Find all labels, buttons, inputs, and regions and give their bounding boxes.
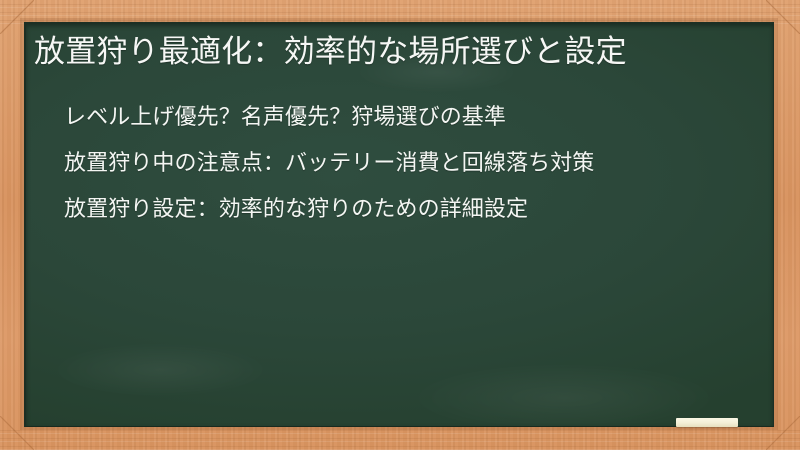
- table-of-contents: レベル上げ優先？名声優先？狩場選びの基準 放置狩り中の注意点：バッテリー消費と回…: [34, 102, 755, 224]
- chalkboard-surface: 放置狩り最適化：効率的な場所選びと設定 レベル上げ優先？名声優先？狩場選びの基準…: [24, 22, 774, 427]
- toc-item-2[interactable]: 放置狩り中の注意点：バッテリー消費と回線落ち対策: [64, 148, 724, 178]
- blackboard-frame: 放置狩り最適化：効率的な場所選びと設定 レベル上げ優先？名声優先？狩場選びの基準…: [0, 0, 800, 450]
- wood-grain-top-rail: [0, 0, 800, 24]
- chalk-stick-icon: [676, 418, 738, 427]
- toc-item-3[interactable]: 放置狩り設定：効率的な狩りのための詳細設定: [64, 194, 724, 224]
- wood-grain-bottom-rail: [0, 426, 800, 450]
- toc-item-1[interactable]: レベル上げ優先？名声優先？狩場選びの基準: [64, 102, 724, 132]
- board-content: 放置狩り最適化：効率的な場所選びと設定 レベル上げ優先？名声優先？狩場選びの基準…: [26, 24, 773, 224]
- page-title: 放置狩り最適化：効率的な場所選びと設定: [34, 32, 724, 73]
